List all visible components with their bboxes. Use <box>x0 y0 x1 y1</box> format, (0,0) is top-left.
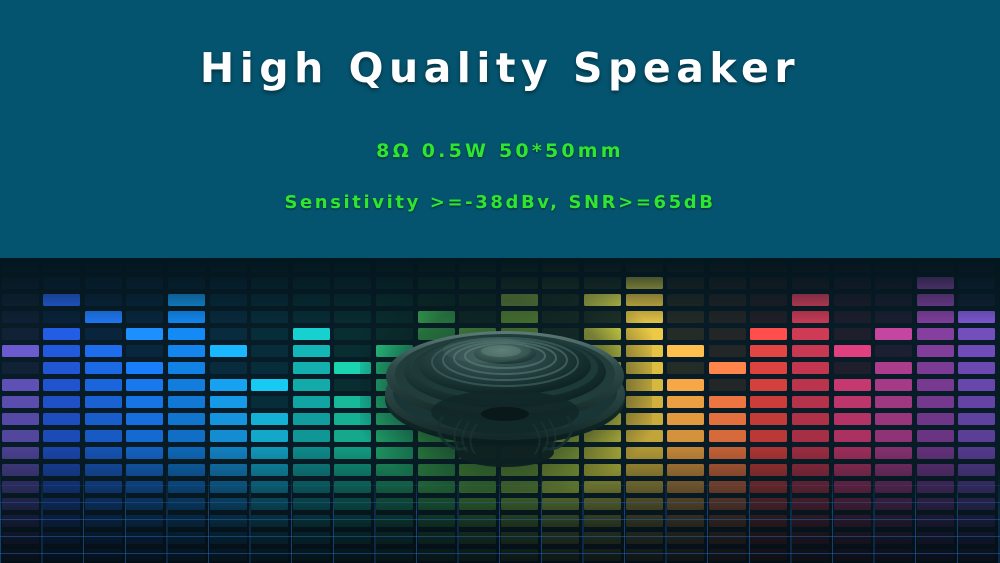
equalizer-segment <box>958 277 995 290</box>
equalizer-segment <box>958 260 995 273</box>
equalizer-segment <box>709 447 746 460</box>
equalizer-segment <box>2 447 39 460</box>
equalizer-segment <box>251 515 288 528</box>
equalizer-segment <box>958 379 995 392</box>
equalizer-segment <box>376 345 413 358</box>
equalizer-segment <box>126 481 163 494</box>
equalizer-segment <box>834 294 871 307</box>
equalizer-segment <box>293 464 330 477</box>
equalizer-segment <box>626 498 663 511</box>
equalizer-segment <box>834 464 871 477</box>
equalizer-segment <box>584 328 621 341</box>
equalizer-segment <box>210 515 247 528</box>
equalizer-segment <box>251 549 288 562</box>
equalizer-segment <box>958 430 995 443</box>
equalizer-segment <box>126 277 163 290</box>
equalizer-segment <box>418 549 455 562</box>
equalizer-segment <box>334 277 371 290</box>
equalizer-segment <box>43 294 80 307</box>
equalizer-column <box>83 258 125 563</box>
equalizer-segment <box>709 515 746 528</box>
equalizer-segment <box>584 294 621 307</box>
equalizer-segment <box>168 549 205 562</box>
equalizer-segment <box>168 532 205 545</box>
equalizer-segment <box>875 413 912 426</box>
equalizer-segment <box>210 362 247 375</box>
equalizer-segment <box>168 277 205 290</box>
equalizer-segment <box>626 549 663 562</box>
banner-header: High Quality Speaker 8Ω 0.5W 50*50mm Sen… <box>0 0 1000 258</box>
equalizer-segment <box>2 396 39 409</box>
equalizer-segment <box>43 481 80 494</box>
equalizer-segment <box>418 345 455 358</box>
equalizer-segment <box>251 277 288 290</box>
equalizer-segment <box>334 430 371 443</box>
equalizer-segment <box>958 396 995 409</box>
equalizer-column <box>291 258 333 563</box>
equalizer-segment <box>875 430 912 443</box>
equalizer-segment <box>667 447 704 460</box>
equalizer-segment <box>792 498 829 511</box>
equalizer-segment <box>2 532 39 545</box>
equalizer-segment <box>459 549 496 562</box>
equalizer-segment <box>501 362 538 375</box>
equalizer-segment <box>2 311 39 324</box>
equalizer-segment <box>917 328 954 341</box>
equalizer-segment <box>334 549 371 562</box>
equalizer-segment <box>875 396 912 409</box>
equalizer-segment <box>958 294 995 307</box>
equalizer-segment <box>917 311 954 324</box>
equalizer-segment <box>210 345 247 358</box>
equalizer-segment <box>834 311 871 324</box>
equalizer-segment <box>834 379 871 392</box>
equalizer-segment <box>376 464 413 477</box>
equalizer-segment <box>958 413 995 426</box>
equalizer-segment <box>917 379 954 392</box>
equalizer-segment <box>43 532 80 545</box>
equalizer-segment <box>542 430 579 443</box>
equalizer-segment <box>917 549 954 562</box>
equalizer-segment <box>126 532 163 545</box>
equalizer-segment <box>501 464 538 477</box>
equalizer-segment <box>85 396 122 409</box>
equalizer-segment <box>168 328 205 341</box>
equalizer-segment <box>750 447 787 460</box>
equalizer-segment <box>293 515 330 528</box>
equalizer-segment <box>210 464 247 477</box>
equalizer-segment <box>210 447 247 460</box>
equalizer-segment <box>210 549 247 562</box>
equalizer-segment <box>792 294 829 307</box>
equalizer-segment <box>43 328 80 341</box>
equalizer-segment <box>293 379 330 392</box>
equalizer-segment <box>792 396 829 409</box>
equalizer-column <box>250 258 292 563</box>
equalizer-segment <box>293 345 330 358</box>
equalizer-segment <box>126 515 163 528</box>
equalizer-segment <box>334 379 371 392</box>
equalizer-segment <box>792 447 829 460</box>
equalizer-segment <box>750 515 787 528</box>
equalizer-segment <box>85 481 122 494</box>
equalizer-segment <box>626 464 663 477</box>
equalizer-segment <box>293 396 330 409</box>
equalizer-segment <box>709 362 746 375</box>
equalizer-segment <box>418 379 455 392</box>
equalizer-segment <box>126 294 163 307</box>
equalizer-segment <box>917 277 954 290</box>
equalizer-segment <box>709 294 746 307</box>
equalizer-column <box>0 258 42 563</box>
equalizer-segment <box>2 430 39 443</box>
equalizer-segment <box>501 498 538 511</box>
equalizer-segment <box>542 311 579 324</box>
equalizer-segment <box>2 277 39 290</box>
equalizer-segment <box>667 311 704 324</box>
equalizer-column <box>874 258 916 563</box>
equalizer-segment <box>43 447 80 460</box>
equalizer-segment <box>126 311 163 324</box>
equalizer-segment <box>251 362 288 375</box>
equalizer-segment <box>251 447 288 460</box>
equalizer-segment <box>834 498 871 511</box>
equalizer-segment <box>210 498 247 511</box>
equalizer-segment <box>750 345 787 358</box>
equalizer-segment <box>376 379 413 392</box>
equalizer-segment <box>459 396 496 409</box>
equalizer-segment <box>251 464 288 477</box>
equalizer-segment <box>251 328 288 341</box>
equalizer-segment <box>626 294 663 307</box>
equalizer-segment <box>626 277 663 290</box>
equalizer-segment <box>43 549 80 562</box>
equalizer-segment <box>2 379 39 392</box>
equalizer-segment <box>210 532 247 545</box>
equalizer-segment <box>875 464 912 477</box>
equalizer-segment <box>542 260 579 273</box>
equalizer-segment <box>418 396 455 409</box>
equalizer-segment <box>43 311 80 324</box>
equalizer-segment <box>85 362 122 375</box>
equalizer-segment <box>85 311 122 324</box>
equalizer-segment <box>43 345 80 358</box>
equalizer-segment <box>501 413 538 426</box>
equalizer-segment <box>376 430 413 443</box>
equalizer-segment <box>210 294 247 307</box>
equalizer-column <box>957 258 999 563</box>
equalizer-segment <box>168 260 205 273</box>
equalizer-segment <box>917 294 954 307</box>
equalizer-segment <box>126 260 163 273</box>
equalizer-segment <box>210 481 247 494</box>
equalizer-segment <box>126 430 163 443</box>
equalizer-segment <box>542 515 579 528</box>
equalizer-segment <box>2 515 39 528</box>
page-title: High Quality Speaker <box>0 44 1000 92</box>
equalizer-segment <box>85 277 122 290</box>
equalizer-segment <box>459 345 496 358</box>
equalizer-segment <box>792 328 829 341</box>
equalizer-segment <box>293 277 330 290</box>
equalizer-segment <box>542 277 579 290</box>
equalizer-segment <box>2 413 39 426</box>
equalizer-segment <box>709 345 746 358</box>
equalizer-segment <box>168 481 205 494</box>
equalizer-column <box>458 258 500 563</box>
equalizer-segment <box>542 549 579 562</box>
equalizer-segment <box>293 328 330 341</box>
equalizer-segment <box>334 311 371 324</box>
equalizer-segment <box>418 328 455 341</box>
equalizer-segment <box>626 379 663 392</box>
equalizer-segment <box>43 430 80 443</box>
equalizer-segment <box>958 345 995 358</box>
equalizer-segment <box>958 532 995 545</box>
equalizer-segment <box>834 328 871 341</box>
equalizer-segment <box>501 277 538 290</box>
equalizer-segment <box>168 413 205 426</box>
equalizer-segment <box>501 430 538 443</box>
equalizer-segment <box>168 362 205 375</box>
equalizer-segment <box>418 430 455 443</box>
equalizer-segment <box>376 447 413 460</box>
equalizer-segment <box>667 379 704 392</box>
equalizer-segment <box>126 379 163 392</box>
equalizer-column <box>790 258 832 563</box>
equalizer-segment <box>210 396 247 409</box>
equalizer-segment <box>2 345 39 358</box>
equalizer-segment <box>750 413 787 426</box>
equalizer-segment <box>334 498 371 511</box>
equalizer-segment <box>667 345 704 358</box>
equalizer-segment <box>667 430 704 443</box>
equalizer-segment <box>85 532 122 545</box>
equalizer-segment <box>459 515 496 528</box>
equalizer-segment <box>542 379 579 392</box>
equalizer-stage <box>0 258 1000 563</box>
equalizer-segment <box>376 328 413 341</box>
equalizer-segment <box>459 532 496 545</box>
equalizer-segment <box>376 498 413 511</box>
equalizer-segment <box>251 498 288 511</box>
equalizer-segment <box>584 430 621 443</box>
equalizer-segment <box>709 311 746 324</box>
equalizer-segment <box>626 345 663 358</box>
equalizer-segment <box>376 413 413 426</box>
equalizer-segment <box>875 294 912 307</box>
equalizer-segment <box>418 260 455 273</box>
equalizer-segment <box>750 498 787 511</box>
equalizer-segment <box>418 311 455 324</box>
equalizer-segment <box>667 481 704 494</box>
equalizer-segment <box>792 549 829 562</box>
equalizer-segment <box>917 481 954 494</box>
equalizer-segment <box>2 549 39 562</box>
equalizer-segment <box>750 549 787 562</box>
equalizer-segment <box>43 396 80 409</box>
equalizer-column <box>166 258 208 563</box>
equalizer-segment <box>85 447 122 460</box>
equalizer-column <box>42 258 84 563</box>
equalizer-segment <box>126 396 163 409</box>
equalizer-segment <box>584 277 621 290</box>
equalizer-segment <box>750 481 787 494</box>
equalizer-segment <box>418 532 455 545</box>
equalizer-segment <box>542 532 579 545</box>
equalizer-segment <box>875 447 912 460</box>
equalizer-segment <box>376 294 413 307</box>
equalizer-segment <box>2 481 39 494</box>
equalizer-segment <box>418 447 455 460</box>
equalizer-segment <box>85 464 122 477</box>
equalizer-segment <box>126 464 163 477</box>
equalizer-segment <box>875 362 912 375</box>
equalizer-segment <box>750 294 787 307</box>
equalizer-segment <box>85 549 122 562</box>
equalizer-segment <box>501 311 538 324</box>
equalizer-segment <box>584 532 621 545</box>
equalizer-segment <box>85 345 122 358</box>
equalizer-segment <box>750 430 787 443</box>
equalizer-segment <box>85 379 122 392</box>
equalizer-segment <box>459 464 496 477</box>
equalizer-segment <box>542 413 579 426</box>
equalizer-segment <box>459 294 496 307</box>
equalizer-segment <box>501 515 538 528</box>
equalizer-segment <box>709 277 746 290</box>
equalizer-column <box>832 258 874 563</box>
equalizer-segment <box>750 311 787 324</box>
equalizer-segment <box>459 413 496 426</box>
equalizer-segment <box>43 277 80 290</box>
equalizer-segment <box>43 379 80 392</box>
equalizer-segment <box>43 464 80 477</box>
equalizer-segment <box>542 464 579 477</box>
equalizer-segment <box>376 396 413 409</box>
equalizer-segment <box>834 277 871 290</box>
equalizer-segment <box>85 328 122 341</box>
equalizer-segment <box>626 396 663 409</box>
equalizer-segment <box>501 328 538 341</box>
equalizer-segment <box>43 498 80 511</box>
equalizer-segment <box>542 345 579 358</box>
equalizer-segment <box>709 396 746 409</box>
equalizer-segment <box>168 498 205 511</box>
equalizer-segment <box>958 362 995 375</box>
equalizer-segment <box>709 260 746 273</box>
equalizer-segment <box>792 413 829 426</box>
equalizer-segment <box>251 345 288 358</box>
equalizer-segment <box>875 532 912 545</box>
equalizer-segment <box>418 277 455 290</box>
equalizer-segment <box>750 277 787 290</box>
equalizer-segment <box>501 260 538 273</box>
equalizer-segment <box>792 532 829 545</box>
equalizer-segment <box>126 362 163 375</box>
equalizer-segment <box>917 345 954 358</box>
equalizer-segment <box>168 396 205 409</box>
equalizer-segment <box>792 260 829 273</box>
equalizer-segment <box>501 379 538 392</box>
equalizer-segment <box>958 311 995 324</box>
equalizer-segment <box>542 328 579 341</box>
equalizer-segment <box>917 498 954 511</box>
equalizer-segment <box>85 260 122 273</box>
equalizer-segment <box>834 515 871 528</box>
equalizer-segment <box>875 260 912 273</box>
equalizer-segment <box>584 447 621 460</box>
equalizer-segment <box>667 515 704 528</box>
equalizer-column <box>333 258 375 563</box>
equalizer-segment <box>667 362 704 375</box>
equalizer-segment <box>2 260 39 273</box>
equalizer-segment <box>334 362 371 375</box>
equalizer-segment <box>709 379 746 392</box>
equalizer-segment <box>584 464 621 477</box>
equalizer-segment <box>875 345 912 358</box>
equalizer-segment <box>418 362 455 375</box>
equalizer-segment <box>251 396 288 409</box>
equalizer-segment <box>43 362 80 375</box>
equalizer-segment <box>834 481 871 494</box>
equalizer-segment <box>958 515 995 528</box>
equalizer-segment <box>958 481 995 494</box>
equalizer-segment <box>168 515 205 528</box>
equalizer-segment <box>626 311 663 324</box>
equalizer-segment <box>459 379 496 392</box>
equalizer-segment <box>750 396 787 409</box>
equalizer-segment <box>126 549 163 562</box>
equalizer-segment <box>293 498 330 511</box>
equalizer-segment <box>917 362 954 375</box>
equalizer-segment <box>958 549 995 562</box>
equalizer-segment <box>168 464 205 477</box>
equalizer-segment <box>834 345 871 358</box>
equalizer-segment <box>792 345 829 358</box>
spec-line-sensitivity-snr: Sensitivity >=-38dBv, SNR>=65dB <box>0 192 1000 213</box>
equalizer-segment <box>334 396 371 409</box>
equalizer-segment <box>584 345 621 358</box>
equalizer-segment <box>834 396 871 409</box>
equalizer-segment <box>459 447 496 460</box>
equalizer-segment <box>293 362 330 375</box>
equalizer-column <box>416 258 458 563</box>
equalizer-segment <box>626 481 663 494</box>
equalizer-segment <box>376 515 413 528</box>
equalizer-segment <box>418 481 455 494</box>
equalizer-segment <box>168 294 205 307</box>
equalizer-segment <box>958 464 995 477</box>
equalizer-segment <box>958 328 995 341</box>
equalizer-segment <box>210 277 247 290</box>
equalizer-segment <box>168 379 205 392</box>
equalizer-segment <box>875 311 912 324</box>
equalizer-segment <box>2 294 39 307</box>
equalizer-segment <box>418 464 455 477</box>
equalizer-segment <box>667 328 704 341</box>
equalizer-column <box>582 258 624 563</box>
equalizer-segment <box>43 260 80 273</box>
equalizer-segment <box>418 498 455 511</box>
equalizer-column <box>707 258 749 563</box>
equalizer-segment <box>792 515 829 528</box>
equalizer-column <box>915 258 957 563</box>
equalizer-segment <box>2 362 39 375</box>
equalizer-segment <box>293 447 330 460</box>
equalizer-column <box>374 258 416 563</box>
equalizer-segment <box>85 498 122 511</box>
